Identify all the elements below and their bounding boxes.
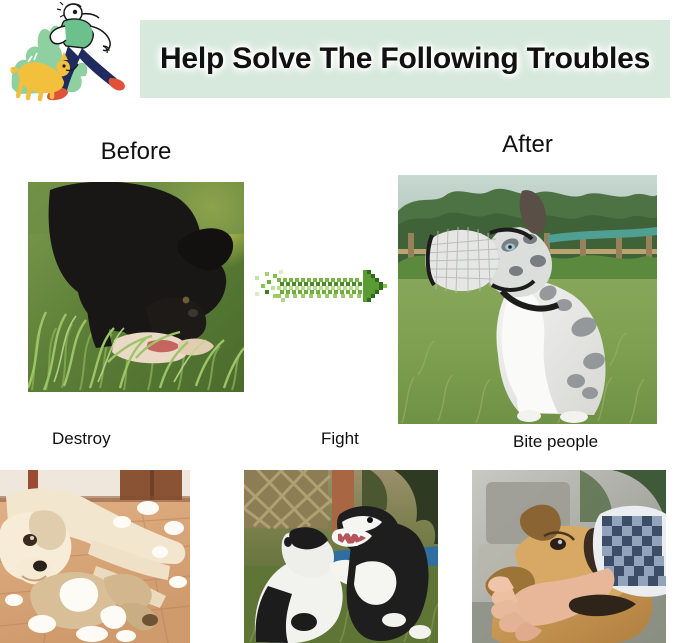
dog-biting-human-arm-photo: [472, 470, 666, 643]
caption-fight: Fight: [321, 429, 359, 449]
pixelated-right-arrow-icon: [255, 262, 395, 308]
title-banner: Help Solve The Following Troubles: [140, 20, 670, 98]
caption-bite-people: Bite people: [513, 432, 598, 452]
two-dogs-fighting-photo: [244, 470, 438, 643]
dog-with-shredded-plush-toy-photo: [0, 470, 190, 643]
dog-wearing-mesh-muzzle-photo: [398, 175, 657, 424]
caption-destroy: Destroy: [52, 429, 111, 449]
after-label: After: [398, 131, 657, 159]
before-label: Before: [28, 138, 244, 166]
page-title: Help Solve The Following Troubles: [160, 42, 650, 76]
man-running-from-biting-dog-icon: [4, 2, 144, 106]
black-dog-eating-food-in-grass-photo: [28, 182, 244, 392]
page-header: Help Solve The Following Troubles: [0, 0, 679, 118]
